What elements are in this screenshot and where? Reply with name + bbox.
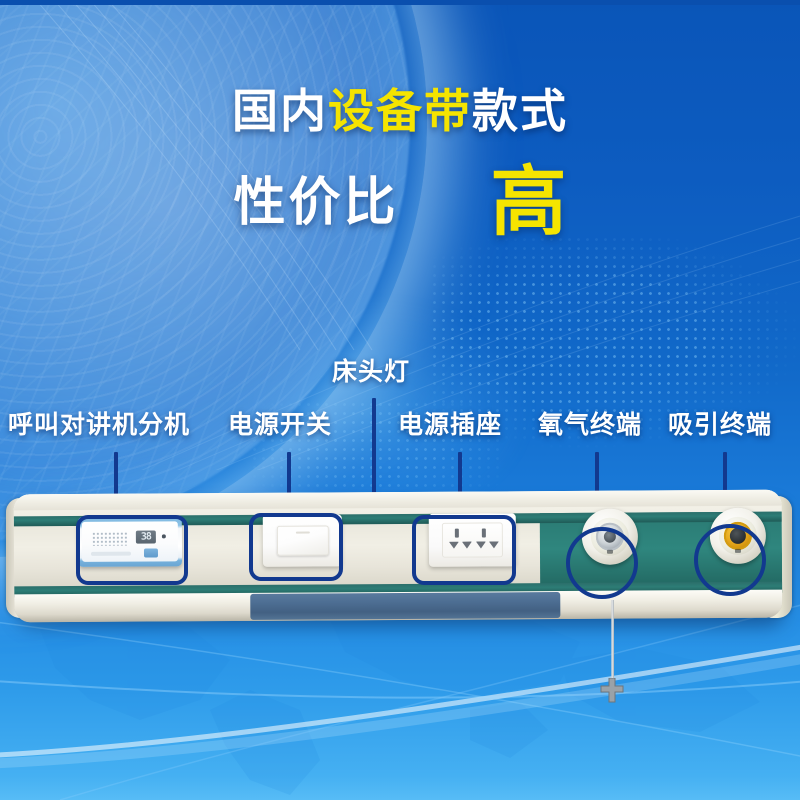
callout-label-bed-lamp: 床头灯 — [332, 360, 410, 385]
panel-rail-slider — [250, 592, 560, 620]
promo-banner: 国内设备带款式 性价比 高 呼叫对讲机分机 电源开关 床头灯 电源插座 氧气终端… — [0, 0, 800, 800]
callout-label-power-socket: 电源插座 — [398, 413, 502, 438]
highlight-box-switch — [249, 513, 343, 581]
panel-top-bevel — [14, 490, 782, 511]
highlight-box-socket — [412, 515, 516, 585]
pull-cord-line[interactable] — [611, 600, 614, 686]
callout-label-power-switch: 电源开关 — [228, 413, 332, 438]
pull-cord-handle-icon[interactable] — [597, 678, 627, 704]
callout-label-suction: 吸引终端 — [668, 413, 772, 438]
highlight-circle-suction — [694, 524, 766, 596]
callout-label-intercom: 呼叫对讲机分机 — [8, 413, 190, 438]
highlight-box-intercom — [76, 515, 188, 585]
highlight-circle-oxygen — [566, 527, 638, 599]
callout-label-oxygen: 氧气终端 — [538, 413, 642, 438]
callout-layer: 呼叫对讲机分机 电源开关 床头灯 电源插座 氧气终端 吸引终端 — [0, 0, 800, 800]
